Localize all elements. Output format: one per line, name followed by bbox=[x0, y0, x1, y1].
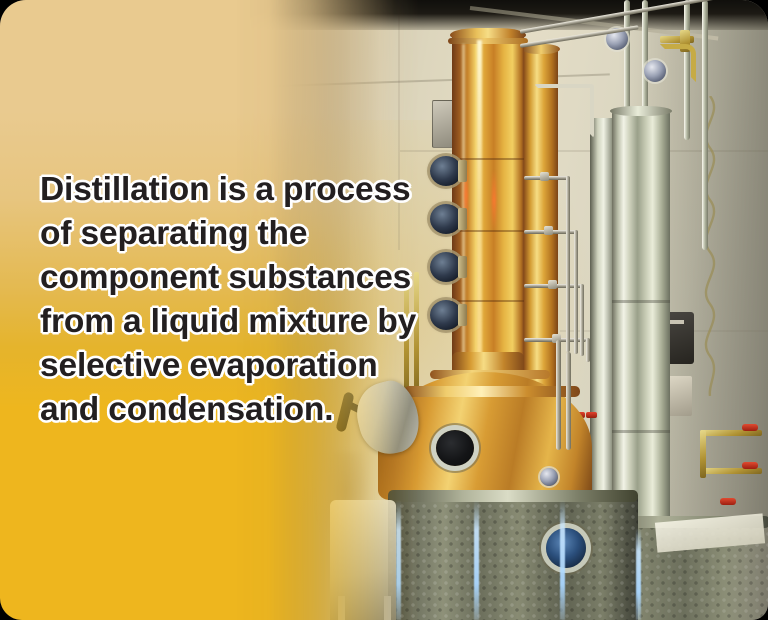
sight-glass-port bbox=[430, 252, 462, 282]
steel-highlight bbox=[560, 500, 565, 620]
column-band bbox=[612, 430, 670, 433]
red-handle-valve bbox=[586, 412, 597, 418]
wall-pipe bbox=[700, 430, 706, 478]
steel-highlight bbox=[636, 528, 641, 620]
takeoff-valve bbox=[548, 280, 557, 289]
porthole-window bbox=[546, 528, 586, 568]
red-handle-valve bbox=[742, 462, 758, 469]
stainless-column bbox=[612, 112, 670, 532]
coiled-wire-icon bbox=[690, 96, 730, 396]
steel-highlight bbox=[474, 500, 479, 620]
caption-text: Distillation is a process of separating … bbox=[40, 168, 430, 432]
sight-glass-port bbox=[430, 204, 462, 234]
takeoff-valve bbox=[544, 226, 553, 235]
takeoff-valve bbox=[540, 172, 549, 181]
copper-glint bbox=[492, 170, 496, 230]
brass-elbow-fitting bbox=[660, 44, 696, 82]
tank-rim bbox=[388, 490, 638, 502]
distillation-info-card: Distillation is a process of separating … bbox=[0, 0, 768, 620]
sight-glass-port bbox=[430, 156, 462, 186]
red-handle-valve bbox=[742, 424, 758, 431]
column-ring bbox=[452, 230, 524, 232]
pressure-gauge bbox=[540, 468, 558, 486]
riser-pipe bbox=[574, 230, 578, 354]
loop-pipe bbox=[534, 84, 594, 138]
pot-still-flange bbox=[404, 386, 580, 397]
dimpled-jacket-base-tank bbox=[388, 492, 638, 620]
stainless-column-cap bbox=[610, 106, 672, 116]
riser-pipe bbox=[566, 176, 570, 352]
riser-pipe bbox=[586, 338, 590, 362]
column-band bbox=[612, 300, 670, 303]
pipe-bundle bbox=[566, 352, 571, 450]
red-handle-valve bbox=[720, 498, 736, 505]
copper-column-rim bbox=[448, 38, 528, 44]
sight-glass-port bbox=[430, 300, 462, 330]
column-ring bbox=[452, 300, 524, 302]
pipe-bundle bbox=[556, 340, 561, 450]
riser-pipe bbox=[702, 0, 708, 250]
porthole-window bbox=[436, 430, 474, 466]
riser-pipe bbox=[580, 284, 584, 356]
